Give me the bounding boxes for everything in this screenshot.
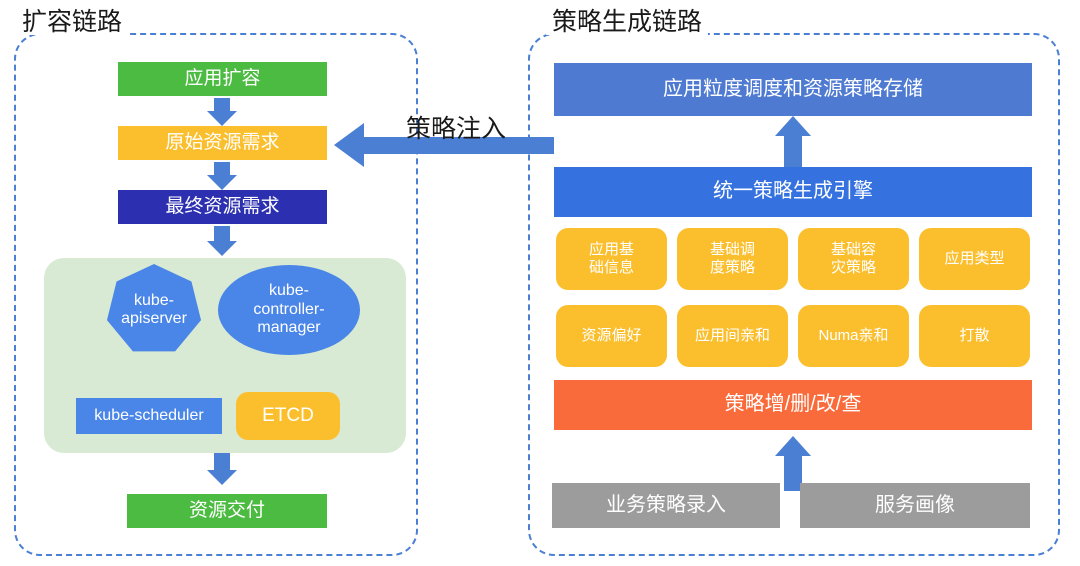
policy-tile-6[interactable]: Numa亲和 bbox=[798, 305, 909, 367]
etcd-label: ETCD bbox=[262, 405, 314, 427]
box-policy-engine-label: 统一策略生成引擎 bbox=[713, 180, 873, 204]
arrow-scale-to-raw-shaft bbox=[214, 98, 230, 112]
arrow-final-to-k8s-head bbox=[207, 241, 237, 256]
kube-controller-manager-label: kube-controller-manager bbox=[239, 282, 339, 337]
policy-tile-5[interactable]: 应用间亲和 bbox=[677, 305, 788, 367]
box-source-business-policy-entry-label: 业务策略录入 bbox=[606, 494, 726, 518]
box-policy-crud-label: 策略增/删/改/查 bbox=[725, 393, 862, 417]
policy-tile-6-label: Numa亲和 bbox=[818, 327, 888, 345]
policy-tile-0[interactable]: 应用基 础信息 bbox=[556, 228, 667, 290]
arrow-engine-to-storage-shaft bbox=[784, 136, 802, 168]
policy-tile-4[interactable]: 资源偏好 bbox=[556, 305, 667, 367]
box-app-scale-out-label: 应用扩容 bbox=[184, 68, 260, 90]
kube-apiserver-label: kube-apiserver bbox=[106, 292, 202, 329]
box-policy-engine[interactable]: 统一策略生成引擎 bbox=[554, 167, 1032, 217]
panel-policy-generation-chain-title: 策略生成链路 bbox=[546, 10, 708, 35]
arrow-raw-to-final-head bbox=[207, 175, 237, 190]
box-resource-delivery-label: 资源交付 bbox=[189, 500, 265, 522]
policy-tile-1[interactable]: 基础调 度策略 bbox=[677, 228, 788, 290]
arrow-raw-to-final-shaft bbox=[214, 162, 230, 176]
arrow-k8s-to-delivery-head bbox=[207, 470, 237, 485]
box-raw-resource-request-label: 原始资源需求 bbox=[165, 132, 279, 154]
arrow-sources-to-crud-head bbox=[775, 436, 811, 456]
kube-scheduler-label: kube-scheduler bbox=[94, 407, 203, 426]
panel-expansion-chain-title: 扩容链路 bbox=[16, 10, 128, 35]
kube-controller-manager-node[interactable]: kube-controller-manager bbox=[218, 265, 360, 355]
policy-tile-4-label: 资源偏好 bbox=[581, 327, 641, 345]
box-raw-resource-request[interactable]: 原始资源需求 bbox=[118, 126, 327, 160]
box-source-service-profile[interactable]: 服务画像 bbox=[800, 483, 1030, 528]
policy-tile-2-label: 基础容 灾策略 bbox=[831, 241, 876, 276]
kube-scheduler-node[interactable]: kube-scheduler bbox=[76, 398, 222, 434]
box-policy-storage-label: 应用粒度调度和资源策略存储 bbox=[663, 78, 923, 102]
arrow-engine-to-storage-head bbox=[775, 116, 811, 136]
box-policy-crud[interactable]: 策略增/删/改/查 bbox=[554, 380, 1032, 430]
policy-injection-label: 策略注入 bbox=[406, 109, 506, 145]
policy-tile-3-label: 应用类型 bbox=[944, 250, 1004, 268]
arrow-k8s-to-delivery-shaft bbox=[214, 453, 230, 471]
policy-tile-2[interactable]: 基础容 灾策略 bbox=[798, 228, 909, 290]
box-resource-delivery[interactable]: 资源交付 bbox=[127, 494, 327, 528]
box-source-business-policy-entry[interactable]: 业务策略录入 bbox=[552, 483, 780, 528]
arrow-final-to-k8s-shaft bbox=[214, 226, 230, 242]
diagram-canvas: 扩容链路 应用扩容 原始资源需求 最终资源需求 kube-apiserver k… bbox=[0, 0, 1080, 566]
policy-tile-5-label: 应用间亲和 bbox=[695, 327, 770, 345]
box-source-service-profile-label: 服务画像 bbox=[875, 494, 955, 518]
policy-injection-arrow-head bbox=[334, 123, 364, 167]
box-app-scale-out[interactable]: 应用扩容 bbox=[118, 62, 327, 96]
arrow-scale-to-raw-head bbox=[207, 111, 237, 126]
policy-tile-7-label: 打散 bbox=[959, 327, 989, 345]
policy-tile-7[interactable]: 打散 bbox=[919, 305, 1030, 367]
policy-tile-3[interactable]: 应用类型 bbox=[919, 228, 1030, 290]
policy-tile-1-label: 基础调 度策略 bbox=[710, 241, 755, 276]
box-final-resource-request-label: 最终资源需求 bbox=[165, 196, 279, 218]
box-final-resource-request[interactable]: 最终资源需求 bbox=[118, 190, 327, 224]
policy-tile-0-label: 应用基 础信息 bbox=[589, 241, 634, 276]
etcd-node[interactable]: ETCD bbox=[236, 392, 340, 440]
box-policy-storage[interactable]: 应用粒度调度和资源策略存储 bbox=[554, 63, 1032, 116]
